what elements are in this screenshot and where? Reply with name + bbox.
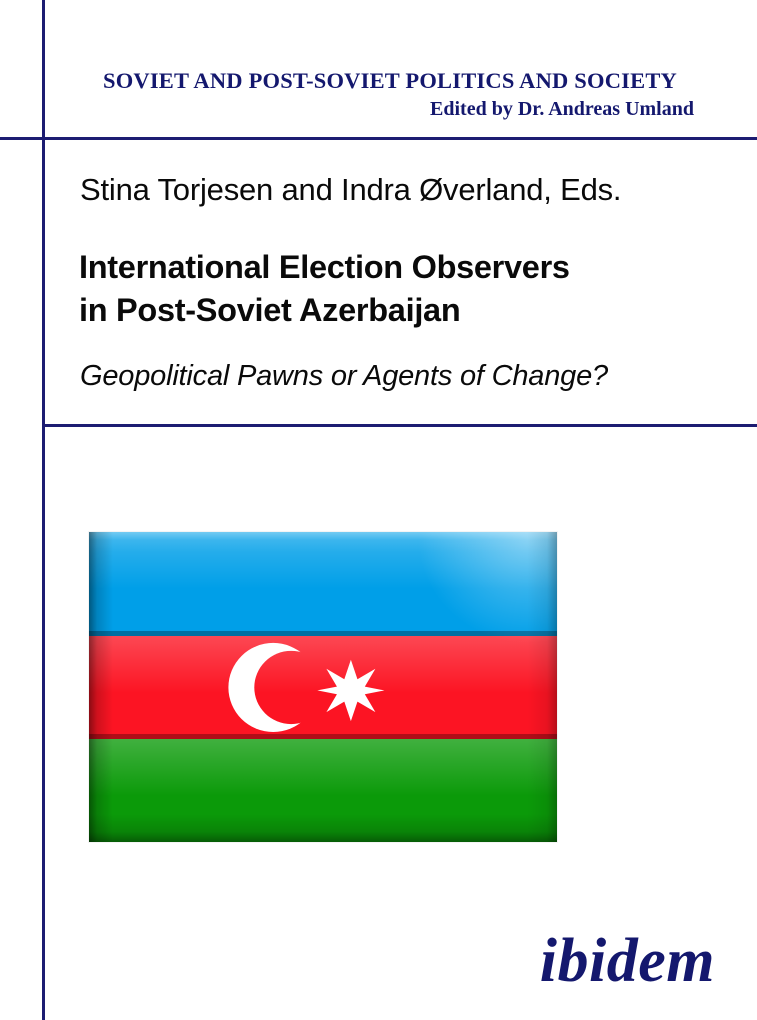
series-editor: Edited by Dr. Andreas Umland	[42, 98, 738, 120]
publisher-logo: ibidem	[540, 930, 715, 992]
crescent-icon	[89, 636, 557, 739]
book-cover: SOVIET AND POST-SOVIET POLITICS AND SOCI…	[0, 0, 757, 1020]
series-header: SOVIET AND POST-SOVIET POLITICS AND SOCI…	[42, 68, 738, 121]
series-title: SOVIET AND POST-SOVIET POLITICS AND SOCI…	[42, 68, 738, 93]
horizontal-rule-middle	[42, 424, 757, 427]
book-title: International Election Observers in Post…	[79, 246, 570, 332]
flag-band-blue	[89, 532, 557, 636]
book-title-line-2: in Post-Soviet Azerbaijan	[79, 289, 570, 332]
flag-bands	[89, 532, 557, 842]
book-subtitle: Geopolitical Pawns or Agents of Change?	[80, 360, 608, 393]
azerbaijan-flag-image	[88, 531, 558, 843]
horizontal-rule-top	[0, 137, 757, 140]
flag-band-green	[89, 739, 557, 842]
flag-emblem	[89, 636, 557, 739]
book-title-line-1: International Election Observers	[79, 246, 570, 289]
vertical-rule	[42, 0, 45, 1020]
book-editors: Stina Torjesen and Indra Øverland, Eds.	[80, 172, 621, 208]
